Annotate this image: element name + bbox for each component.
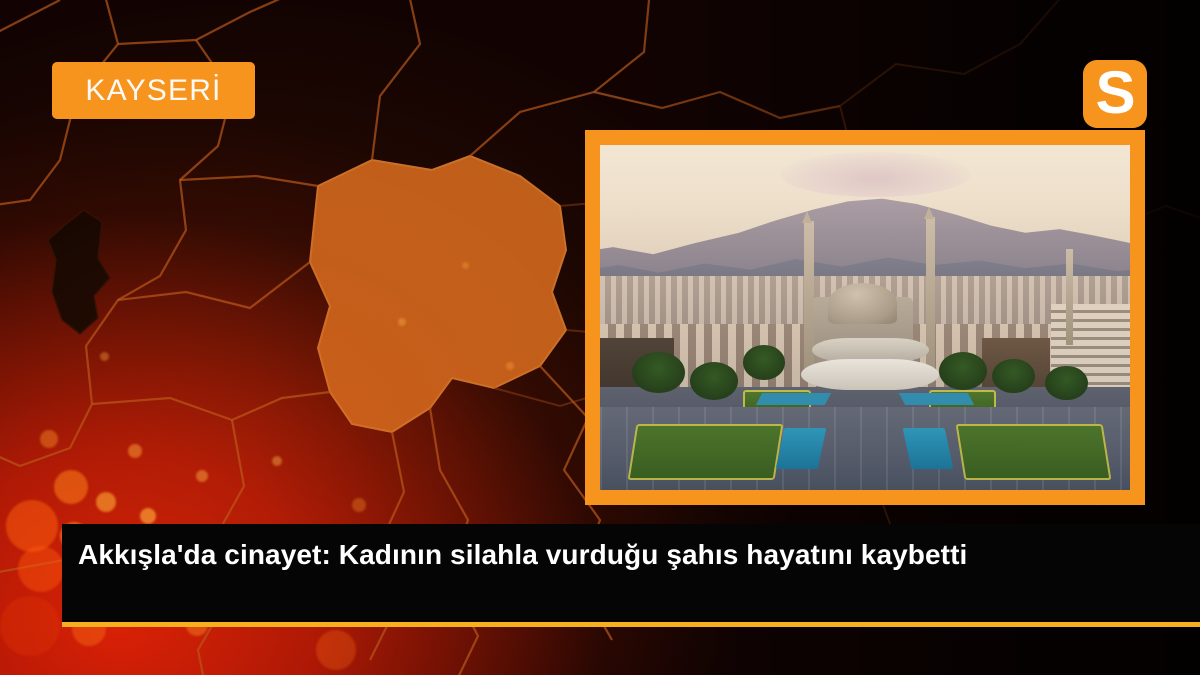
city-badge-label: KAYSERİ [85, 76, 221, 106]
photo-color-grade [600, 145, 1130, 490]
headline-bar: Akkışla'da cinayet: Kadının silahla vurd… [62, 524, 1200, 625]
brand-logo-letter: S [1095, 63, 1134, 123]
page-title: Akkışla'da cinayet: Kadının silahla vurd… [78, 536, 1128, 574]
headline-accent-rule [62, 622, 1200, 627]
photo-frame [585, 130, 1145, 505]
city-badge: KAYSERİ [52, 62, 255, 119]
city-photo [600, 145, 1130, 490]
news-card: KAYSERİ S [0, 0, 1200, 675]
brand-logo[interactable]: S [1083, 60, 1147, 128]
